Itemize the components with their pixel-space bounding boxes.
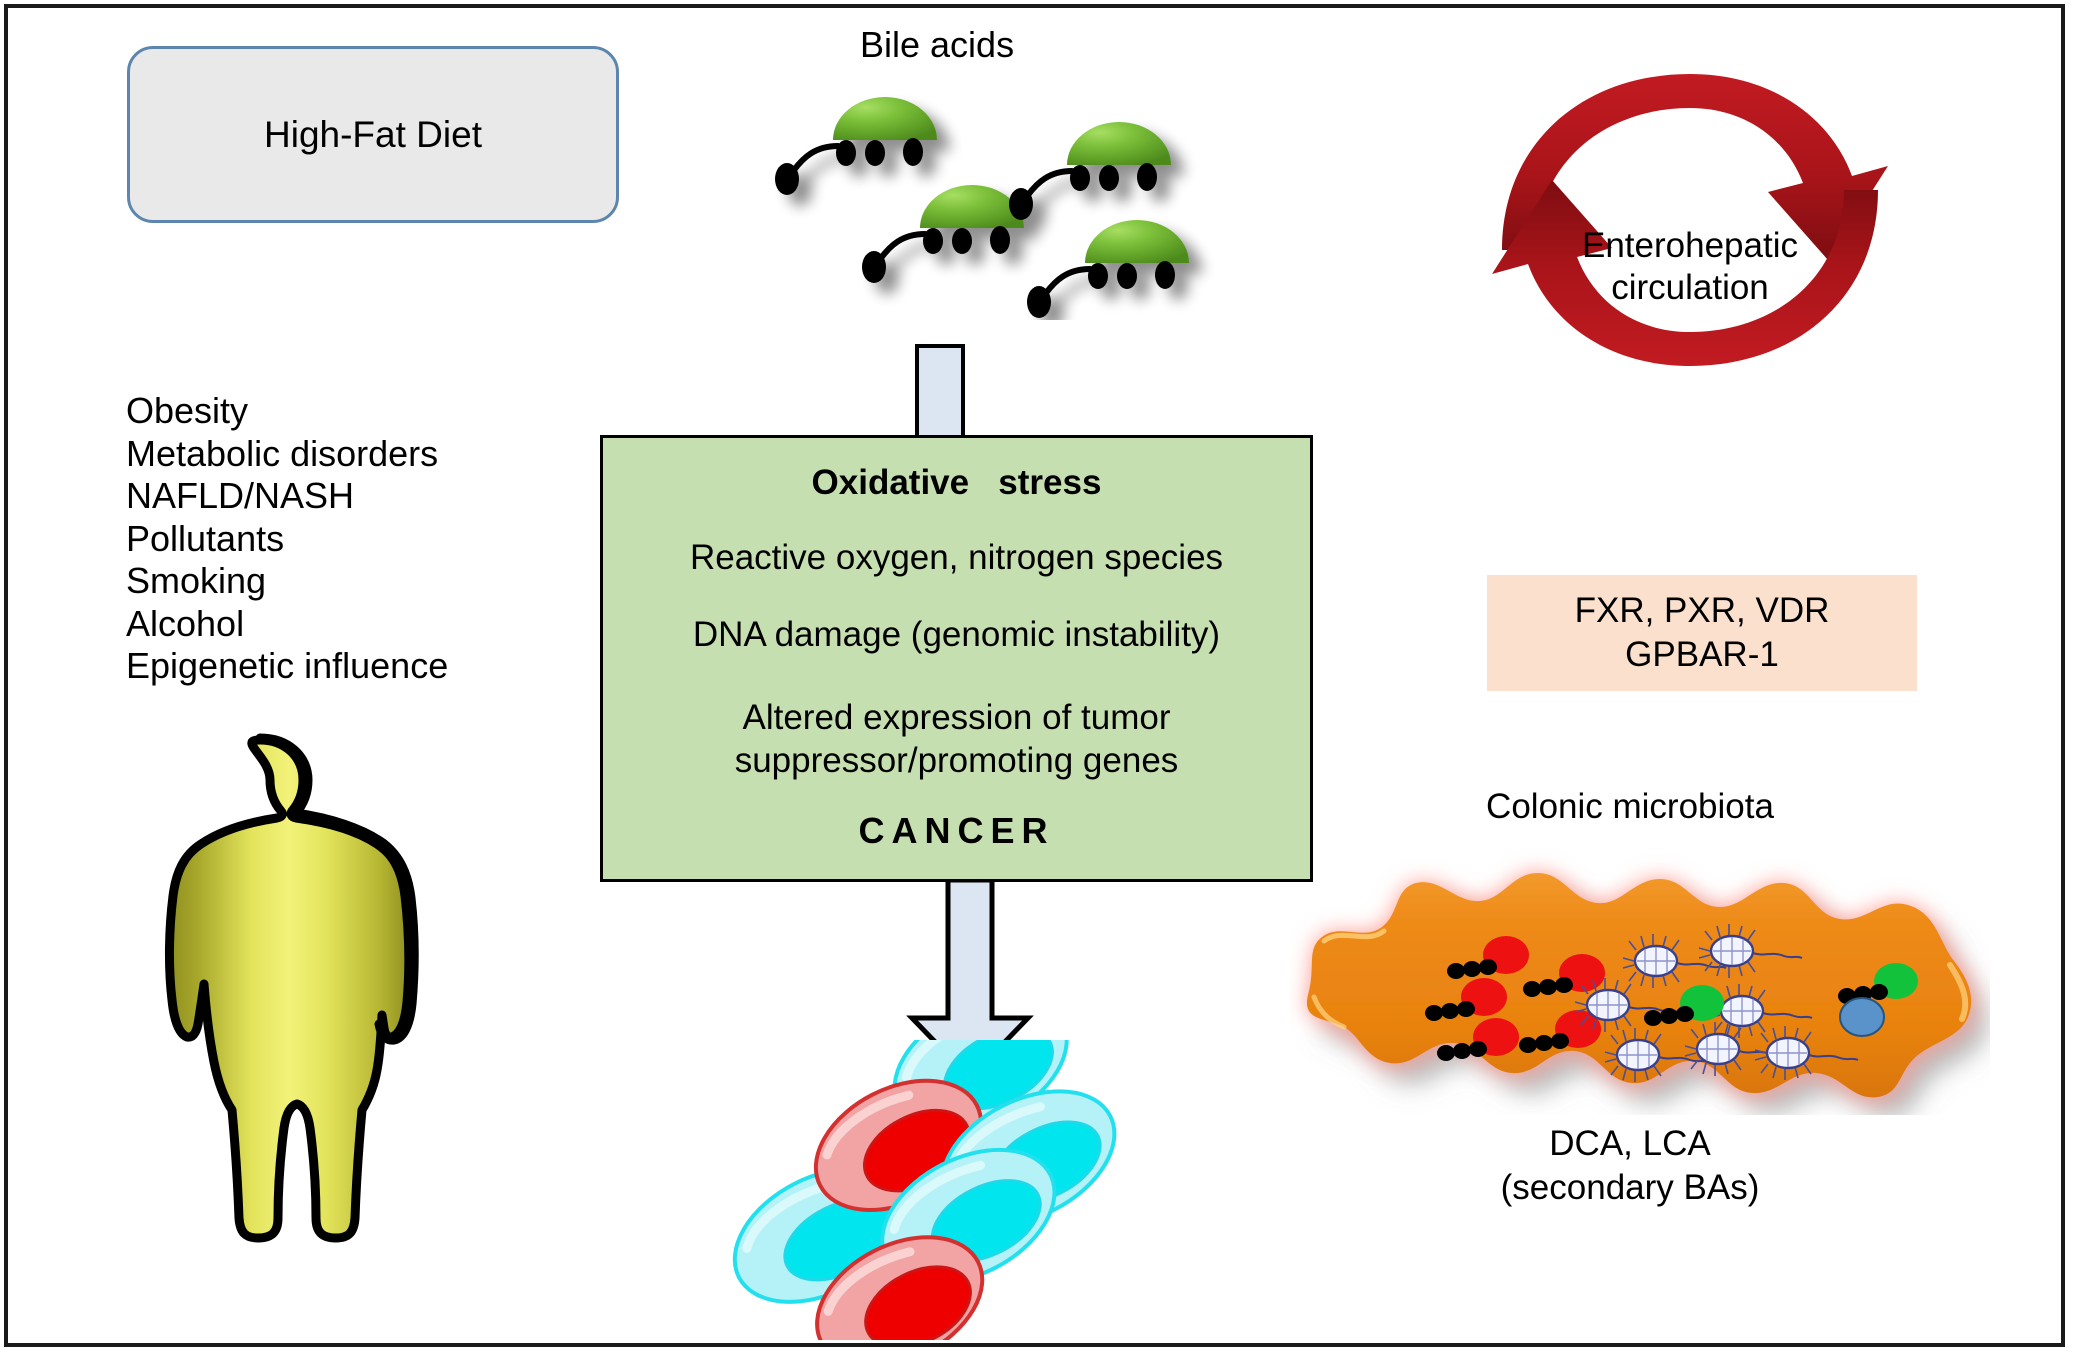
- list-item: Epigenetic influence: [126, 645, 546, 688]
- secondary-bile-acids-caption: DCA, LCA (secondary BAs): [1400, 1122, 1860, 1210]
- oxidative-stress-line-dna-damage: DNA damage (genomic instability): [603, 615, 1310, 655]
- bile-acids-label: Bile acids: [860, 24, 1014, 66]
- list-item: Pollutants: [126, 518, 546, 561]
- oxidative-stress-line-altered-expression: Altered expression of tumor suppressor/p…: [603, 696, 1310, 782]
- bile-acid-to-oxidative-stress-connector: [915, 344, 965, 439]
- colonic-microbiota-illustration: [1290, 845, 1990, 1115]
- oxidative-stress-title: Oxidative stress: [603, 463, 1310, 503]
- receptor-line-gpbar1: GPBAR-1: [1625, 633, 1779, 677]
- figure-canvas: High-Fat Diet Obesity Metabolic disorder…: [0, 0, 2077, 1359]
- secondary-ba-line-2: (secondary BAs): [1400, 1166, 1860, 1210]
- high-fat-diet-label: High-Fat Diet: [264, 114, 482, 156]
- cancer-cell-cluster: [700, 1040, 1120, 1340]
- enterohepatic-circulation-group: Enterohepatic circulation: [1480, 50, 1900, 390]
- obese-human-silhouette: [100, 710, 430, 1250]
- list-item: Smoking: [126, 560, 546, 603]
- altered-expression-line-2: suppressor/promoting genes: [603, 739, 1310, 782]
- list-item: Obesity: [126, 390, 546, 433]
- enterohepatic-label-line-1: Enterohepatic: [1480, 225, 1900, 267]
- risk-factor-list: Obesity Metabolic disorders NAFLD/NASH P…: [126, 390, 546, 688]
- bile-acid-receptors-box: FXR, PXR, VDR GPBAR-1: [1487, 575, 1917, 691]
- enterohepatic-label-line-2: circulation: [1480, 267, 1900, 309]
- oxidative-stress-box: Oxidative stress Reactive oxygen, nitrog…: [600, 435, 1313, 882]
- secondary-ba-line-1: DCA, LCA: [1400, 1122, 1860, 1166]
- altered-expression-line-1: Altered expression of tumor: [603, 696, 1310, 739]
- colonic-microbiota-label: Colonic microbiota: [1400, 787, 1860, 827]
- list-item: Metabolic disorders: [126, 433, 546, 476]
- list-item: NAFLD/NASH: [126, 475, 546, 518]
- cancer-label: CANCER: [603, 810, 1310, 852]
- oxidative-stress-line-reactive-species: Reactive oxygen, nitrogen species: [603, 538, 1310, 578]
- bile-acids-group: Bile acids: [760, 10, 1260, 320]
- receptor-line-nuclear: FXR, PXR, VDR: [1575, 589, 1830, 633]
- enterohepatic-circulation-label: Enterohepatic circulation: [1480, 225, 1900, 309]
- high-fat-diet-box: High-Fat Diet: [127, 46, 619, 223]
- list-item: Alcohol: [126, 603, 546, 646]
